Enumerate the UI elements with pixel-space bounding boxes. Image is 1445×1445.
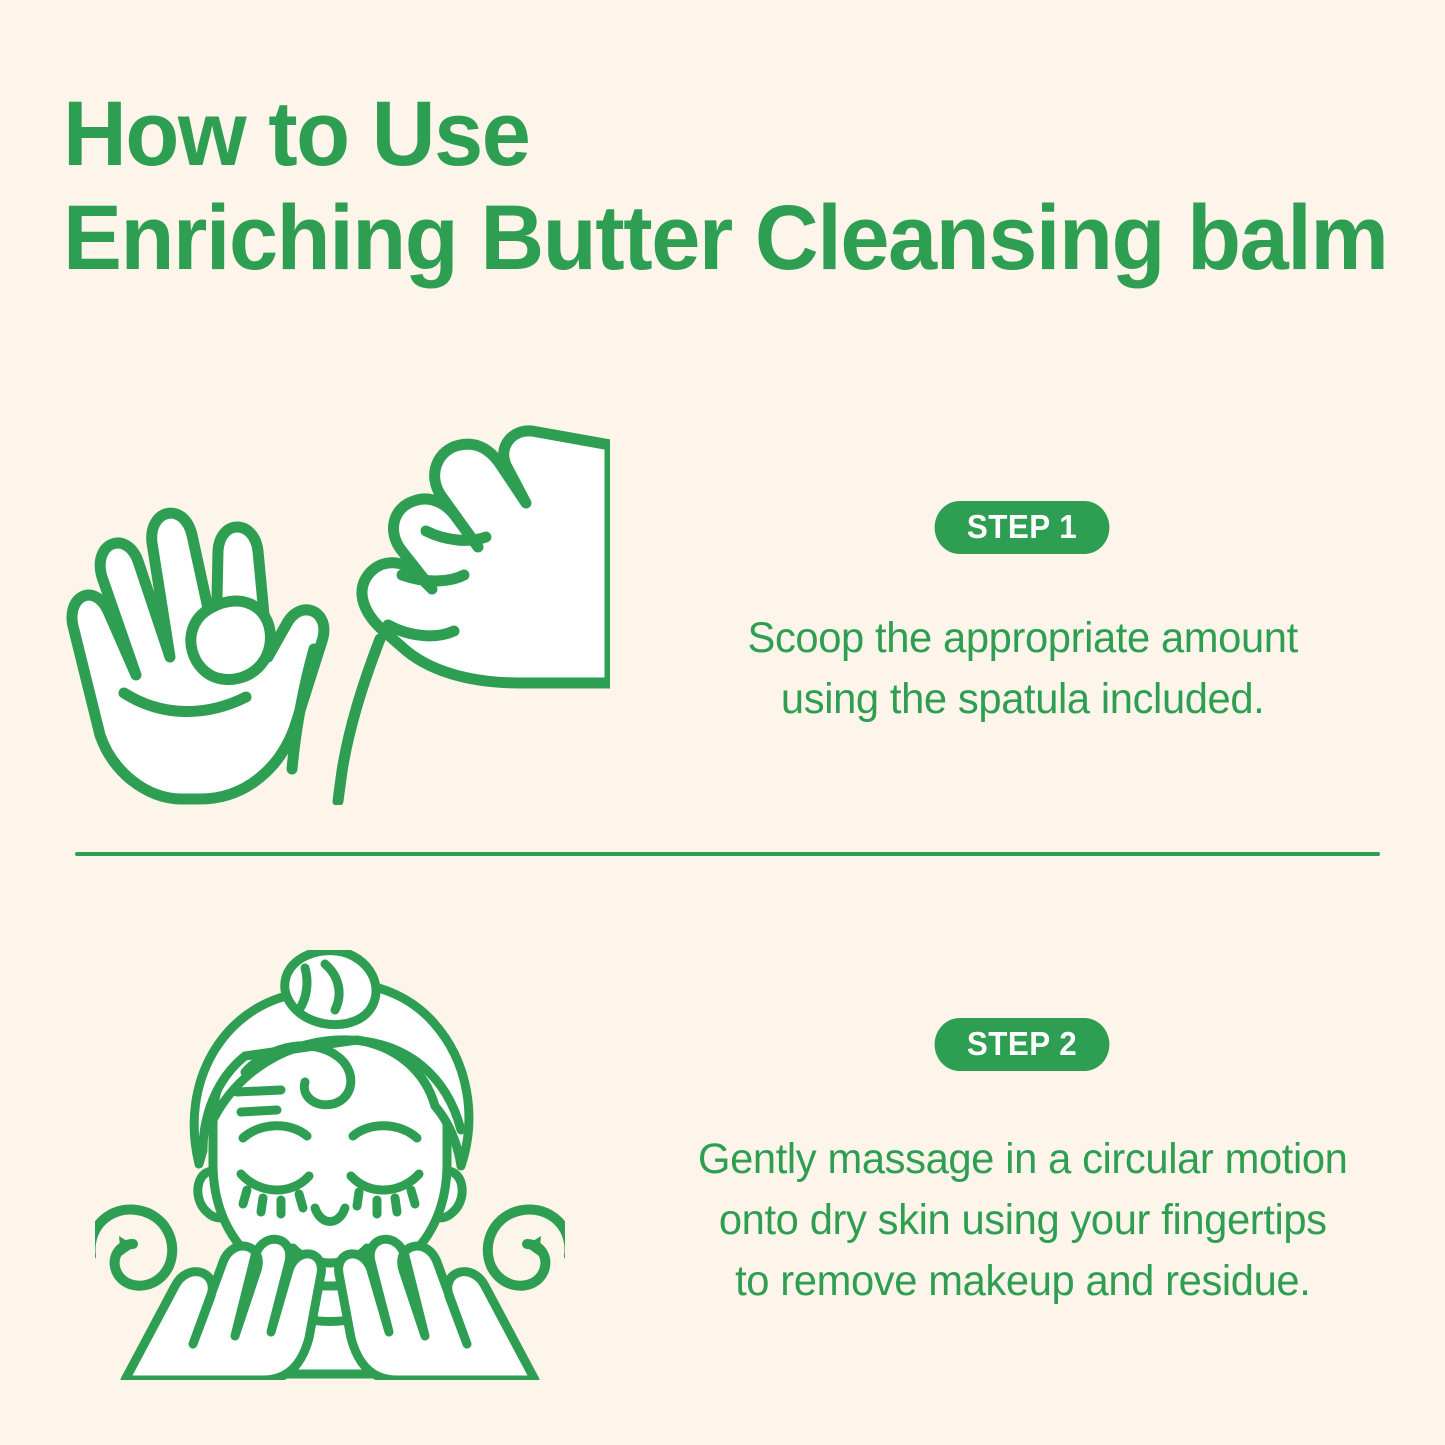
page-title-line-2: Enriching Butter Cleansing balm — [63, 186, 1349, 290]
page-title-line-1: How to Use — [63, 82, 1349, 186]
step-1-row: STEP 1 Scoop the appropriate amount usin… — [0, 400, 1445, 830]
step-1-illustration-cell — [0, 425, 660, 805]
step-1-description: Scoop the appropriate amount using the s… — [747, 608, 1297, 730]
how-to-use-infographic: How to Use Enriching Butter Cleansing ba… — [0, 0, 1445, 1445]
page-title: How to Use Enriching Butter Cleansing ba… — [63, 82, 1403, 290]
step-2-illustration-cell — [0, 950, 660, 1380]
step-1-badge: STEP 1 — [935, 501, 1110, 554]
step-1-text-cell: STEP 1 Scoop the appropriate amount usin… — [660, 501, 1445, 730]
step-2-description: Gently massage in a circular motion onto… — [698, 1129, 1347, 1312]
woman-massaging-face-icon — [95, 950, 565, 1380]
hands-scooping-balm-icon — [50, 425, 610, 805]
section-divider — [75, 852, 1380, 856]
step-2-badge: STEP 2 — [935, 1018, 1110, 1071]
step-2-text-cell: STEP 2 Gently massage in a circular moti… — [660, 1018, 1445, 1312]
step-2-row: STEP 2 Gently massage in a circular moti… — [0, 930, 1445, 1400]
